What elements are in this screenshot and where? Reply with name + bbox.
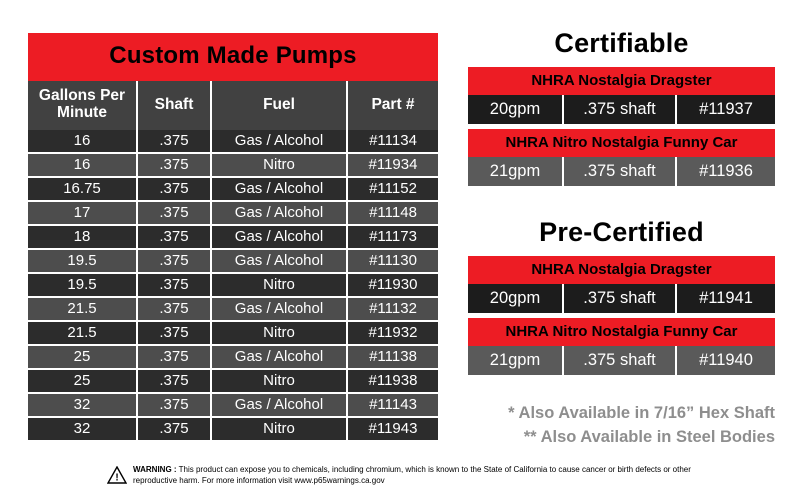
table-row: 25 .375 Gas / Alcohol #11138 <box>28 346 438 370</box>
cell-part: #11143 <box>348 394 438 418</box>
cell-shaft: .375 <box>138 298 212 322</box>
table-row: 32 .375 Nitro #11943 <box>28 418 438 442</box>
availability-notes: * Also Available in 7/16” Hex Shaft ** A… <box>468 402 775 450</box>
subsection-header: NHRA Nostalgia Dragster <box>468 67 775 95</box>
cell-shaft: .375 <box>138 154 212 178</box>
spec-row: 20gpm .375 shaft #11937 <box>468 95 775 124</box>
cell-part: #11132 <box>348 298 438 322</box>
cell-part: #11941 <box>677 284 775 313</box>
cell-shaft: .375 <box>138 178 212 202</box>
cell-part: #11938 <box>348 370 438 394</box>
precertified-funnycar-block: NHRA Nitro Nostalgia Funny Car 21gpm .37… <box>468 318 775 375</box>
cell-fuel: Gas / Alcohol <box>212 130 348 154</box>
section-title-precertified: Pre-Certified <box>468 217 775 248</box>
cell-fuel: Gas / Alcohol <box>212 226 348 250</box>
cell-shaft: .375 <box>138 370 212 394</box>
page-title: Custom Made Pumps <box>28 33 438 81</box>
cell-shaft: .375 <box>138 394 212 418</box>
subsection-header: NHRA Nitro Nostalgia Funny Car <box>468 318 775 346</box>
table-row: 19.5 .375 Nitro #11930 <box>28 274 438 298</box>
section-title-certifiable: Certifiable <box>468 28 775 59</box>
cell-part: #11940 <box>677 346 775 375</box>
cell-gpm: 21.5 <box>28 322 138 346</box>
table-row: 21.5 .375 Gas / Alcohol #11132 <box>28 298 438 322</box>
note-steel-bodies: ** Also Available in Steel Bodies <box>468 426 775 450</box>
certifiable-dragster-block: NHRA Nostalgia Dragster 20gpm .375 shaft… <box>468 67 775 124</box>
cell-part: #11148 <box>348 202 438 226</box>
cell-part: #11130 <box>348 250 438 274</box>
cell-part: #11943 <box>348 418 438 442</box>
table-row: 21.5 .375 Nitro #11932 <box>28 322 438 346</box>
cell-fuel: Gas / Alcohol <box>212 202 348 226</box>
cell-gpm: 21gpm <box>468 157 564 186</box>
cell-part: #11138 <box>348 346 438 370</box>
warning-line-1: This product can expose you to chemicals… <box>179 465 557 474</box>
column-header-shaft: Shaft <box>138 81 212 130</box>
spec-row: 20gpm .375 shaft #11941 <box>468 284 775 313</box>
cell-shaft: .375 <box>138 418 212 442</box>
warning-label: WARNING : <box>133 465 177 474</box>
table-row: 19.5 .375 Gas / Alcohol #11130 <box>28 250 438 274</box>
cell-gpm: 20gpm <box>468 284 564 313</box>
cell-shaft: .375 shaft <box>564 95 677 124</box>
cell-shaft: .375 <box>138 274 212 298</box>
cell-gpm: 16 <box>28 154 138 178</box>
cell-fuel: Gas / Alcohol <box>212 178 348 202</box>
note-hex-shaft: * Also Available in 7/16” Hex Shaft <box>468 402 775 426</box>
cell-gpm: 16.75 <box>28 178 138 202</box>
subsection-header: NHRA Nitro Nostalgia Funny Car <box>468 129 775 157</box>
cell-fuel: Gas / Alcohol <box>212 394 348 418</box>
cell-part: #11934 <box>348 154 438 178</box>
table-row: 18 .375 Gas / Alcohol #11173 <box>28 226 438 250</box>
table-row: 17 .375 Gas / Alcohol #11148 <box>28 202 438 226</box>
cell-part: #11932 <box>348 322 438 346</box>
spec-row: 21gpm .375 shaft #11940 <box>468 346 775 375</box>
cell-gpm: 17 <box>28 202 138 226</box>
pump-spec-sheet: Custom Made Pumps Gallons Per Minute Sha… <box>0 0 800 497</box>
cell-gpm: 19.5 <box>28 274 138 298</box>
warning-text: WARNING : This product can expose you to… <box>133 465 693 487</box>
cell-shaft: .375 <box>138 130 212 154</box>
cell-gpm: 16 <box>28 130 138 154</box>
cell-shaft: .375 <box>138 250 212 274</box>
cell-fuel: Nitro <box>212 274 348 298</box>
cell-gpm: 25 <box>28 370 138 394</box>
column-header-part: Part # <box>348 81 438 130</box>
table-row: 16 .375 Nitro #11934 <box>28 154 438 178</box>
table-row: 16 .375 Gas / Alcohol #11134 <box>28 130 438 154</box>
cell-part: #11134 <box>348 130 438 154</box>
svg-text:!: ! <box>115 473 118 484</box>
spec-row: 21gpm .375 shaft #11936 <box>468 157 775 186</box>
subsection-header: NHRA Nostalgia Dragster <box>468 256 775 284</box>
table-row: 25 .375 Nitro #11938 <box>28 370 438 394</box>
table-row: 32 .375 Gas / Alcohol #11143 <box>28 394 438 418</box>
prop65-warning: ! WARNING : This product can expose you … <box>0 465 800 489</box>
cell-part: #11936 <box>677 157 775 186</box>
cell-shaft: .375 shaft <box>564 284 677 313</box>
cell-gpm: 25 <box>28 346 138 370</box>
certifiable-funnycar-block: NHRA Nitro Nostalgia Funny Car 21gpm .37… <box>468 129 775 186</box>
column-header-gpm: Gallons Per Minute <box>28 81 138 130</box>
warning-triangle-icon: ! <box>107 466 127 489</box>
cell-fuel: Nitro <box>212 418 348 442</box>
cell-fuel: Gas / Alcohol <box>212 298 348 322</box>
cell-shaft: .375 shaft <box>564 346 677 375</box>
table-row: 16.75 .375 Gas / Alcohol #11152 <box>28 178 438 202</box>
cell-shaft: .375 shaft <box>564 157 677 186</box>
cell-gpm: 19.5 <box>28 250 138 274</box>
cell-fuel: Gas / Alcohol <box>212 250 348 274</box>
cell-shaft: .375 <box>138 346 212 370</box>
cell-gpm: 21gpm <box>468 346 564 375</box>
cell-shaft: .375 <box>138 322 212 346</box>
cell-fuel: Nitro <box>212 322 348 346</box>
cell-gpm: 20gpm <box>468 95 564 124</box>
cell-gpm: 32 <box>28 418 138 442</box>
cell-fuel: Nitro <box>212 154 348 178</box>
cell-part: #11152 <box>348 178 438 202</box>
cell-gpm: 18 <box>28 226 138 250</box>
custom-made-pumps-table: Custom Made Pumps Gallons Per Minute Sha… <box>28 33 438 442</box>
cell-gpm: 21.5 <box>28 298 138 322</box>
cell-part: #11937 <box>677 95 775 124</box>
precertified-dragster-block: NHRA Nostalgia Dragster 20gpm .375 shaft… <box>468 256 775 313</box>
cell-fuel: Gas / Alcohol <box>212 346 348 370</box>
column-header-fuel: Fuel <box>212 81 348 130</box>
cell-shaft: .375 <box>138 226 212 250</box>
cell-gpm: 32 <box>28 394 138 418</box>
table-header-row: Gallons Per Minute Shaft Fuel Part # <box>28 81 438 130</box>
cell-part: #11173 <box>348 226 438 250</box>
cell-fuel: Nitro <box>212 370 348 394</box>
certification-section: Certifiable NHRA Nostalgia Dragster 20gp… <box>468 28 775 450</box>
cell-part: #11930 <box>348 274 438 298</box>
cell-shaft: .375 <box>138 202 212 226</box>
